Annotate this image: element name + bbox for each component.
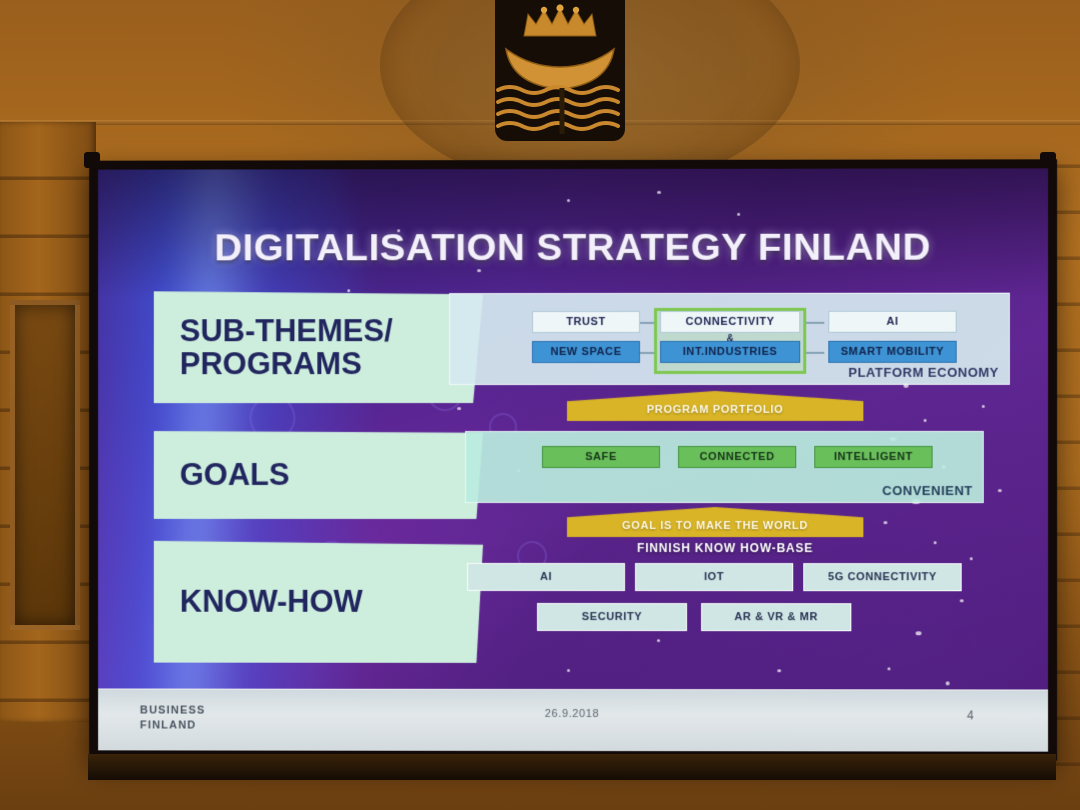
footer-date: 26.9.2018 [98, 707, 1048, 720]
row-label-line-1: GOALS [180, 457, 290, 493]
subtheme-cell-smart-mobility[interactable]: SMART MOBILITY [828, 341, 956, 363]
slide-footer: BUSINESS FINLAND 26.9.2018 4 [98, 688, 1048, 751]
subtheme-cell-int-industries[interactable]: INT.INDUSTRIES [660, 341, 800, 363]
subtheme-cell-connectivity[interactable]: CONNECTIVITY [660, 311, 800, 333]
goals-footnote-convenient: CONVENIENT [882, 483, 973, 498]
row-goals: GOALS SAFE CONNECTED INTELLIGENT CONVENI… [98, 431, 1048, 531]
row-know-how: KNOW-HOW FINNISH KNOW HOW-BASE AI IOT 5G… [98, 541, 1048, 677]
projection-screen: DIGITALISATION STRATEGY FINLAND SUB-THEM… [89, 159, 1057, 760]
knowhow-cell-security[interactable]: SECURITY [537, 603, 687, 631]
goal-cell-safe[interactable]: SAFE [542, 446, 660, 468]
subtheme-cell-trust[interactable]: TRUST [532, 311, 640, 333]
subtheme-cell-ai[interactable]: AI [828, 311, 956, 333]
row-label-sub-themes: SUB-THEMES/ PROGRAMS [154, 291, 483, 403]
crown-icon [520, 4, 600, 38]
banner-goal-is-to-make-the-world: GOAL IS TO MAKE THE WORLD [567, 507, 863, 537]
row-label-goals: GOALS [154, 431, 483, 519]
goal-cell-intelligent[interactable]: INTELLIGENT [814, 446, 932, 468]
row-label-line-1: SUB-THEMES/ [180, 314, 393, 348]
goals-panel: SAFE CONNECTED INTELLIGENT CONVENIENT [465, 431, 984, 503]
connector-line [804, 352, 824, 354]
goal-cell-connected[interactable]: CONNECTED [678, 446, 796, 468]
knowhow-cell-ar-vr-mr[interactable]: AR & VR & MR [701, 603, 851, 631]
row-label-line-2: PROGRAMS [180, 347, 393, 381]
footer-page-number: 4 [967, 708, 974, 722]
connector-line [804, 322, 824, 324]
waves-icon [492, 82, 632, 138]
knowhow-cell-5g-connectivity[interactable]: 5G CONNECTIVITY [803, 563, 961, 591]
logo-line-finland: FINLAND [140, 718, 206, 733]
row-label-know-how: KNOW-HOW [154, 541, 483, 663]
banner-program-portfolio: PROGRAM PORTFOLIO [567, 391, 863, 421]
presentation-slide: DIGITALISATION STRATEGY FINLAND SUB-THEM… [98, 168, 1048, 751]
row-label-line-1: KNOW-HOW [180, 584, 363, 620]
subtheme-cell-new-space[interactable]: NEW SPACE [532, 341, 640, 363]
knowhow-cell-iot[interactable]: IOT [635, 563, 793, 591]
knowhow-cell-ai[interactable]: AI [467, 563, 625, 591]
subtheme-footnote-platform-economy: PLATFORM ECONOMY [848, 365, 999, 380]
know-how-heading: FINNISH KNOW HOW-BASE [465, 541, 986, 555]
wall-picture-frame-left [10, 300, 80, 630]
conference-room-background: DIGITALISATION STRATEGY FINLAND SUB-THEM… [0, 0, 1080, 810]
sub-themes-panel: TRUST NEW SPACE CONNECTIVITY & INT.INDUS… [449, 293, 1010, 385]
screen-bottom-rail [88, 754, 1056, 780]
row-sub-themes: SUB-THEMES/ PROGRAMS TRUST NEW SPACE [98, 291, 1048, 416]
slide-title: DIGITALISATION STRATEGY FINLAND [98, 226, 1048, 269]
